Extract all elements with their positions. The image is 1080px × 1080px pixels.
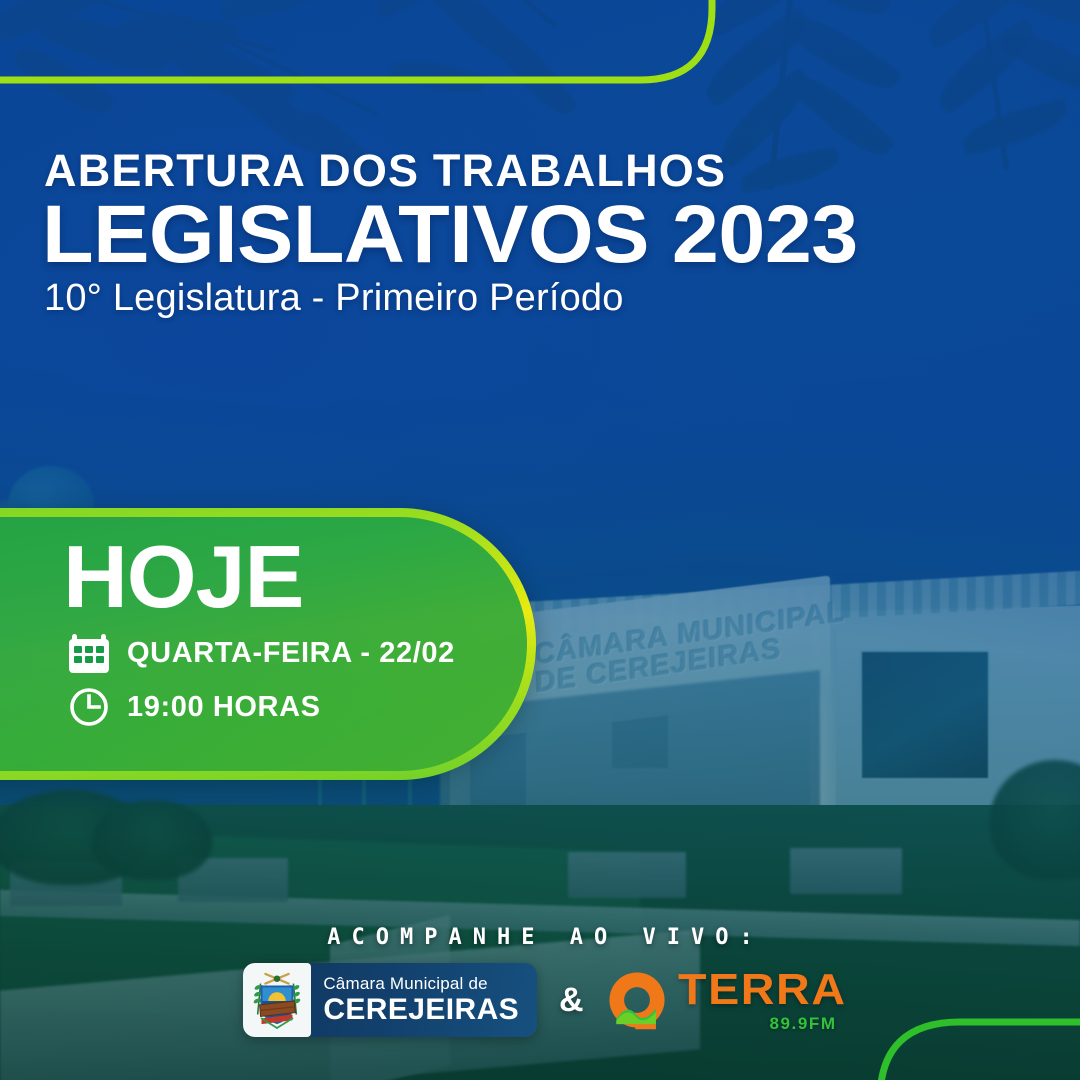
headline-line-1: ABERTURA DOS TRABALHOS: [44, 148, 834, 193]
footer-logos: Câmara Municipal de CEREJEIRAS & TERRA 8…: [0, 963, 1080, 1037]
badge-time-row: 19:00 HORAS: [67, 685, 527, 729]
badge-date-row: QUARTA-FEIRA - 22/02: [67, 631, 527, 675]
camara-logo[interactable]: Câmara Municipal de CEREJEIRAS: [243, 963, 537, 1037]
terra-logo-text: TERRA 89.9FM: [678, 968, 837, 1032]
coat-of-arms-icon: [243, 963, 311, 1037]
camara-logo-line1: Câmara Municipal de: [323, 975, 519, 992]
camara-logo-line2: CEREJEIRAS: [323, 995, 519, 1025]
today-badge: HOJE QUARTA-FEIRA - 22/02: [0, 508, 536, 780]
terra-q-icon: [606, 969, 668, 1031]
terra-name: TERRA: [678, 968, 847, 1012]
calendar-icon: [67, 631, 111, 675]
badge-date-text: QUARTA-FEIRA - 22/02: [127, 639, 455, 668]
today-badge-body: HOJE QUARTA-FEIRA - 22/02: [0, 517, 527, 771]
live-label: ACOMPANHE AO VIVO:: [0, 925, 1080, 950]
headline-line-2: LEGISLATIVOS 2023: [42, 197, 858, 272]
camara-logo-text: Câmara Municipal de CEREJEIRAS: [323, 975, 519, 1025]
event-poster: CÂMARA MUNICIPAL DE CEREJEIRAS: [0, 0, 1080, 1080]
terra-logo[interactable]: TERRA 89.9FM: [606, 968, 837, 1032]
headline-block: ABERTURA DOS TRABALHOS LEGISLATIVOS 2023…: [42, 148, 834, 320]
badge-title: HOJE: [63, 533, 527, 621]
badge-time-text: 19:00 HORAS: [127, 693, 321, 722]
clock-icon: [67, 685, 111, 729]
ampersand-separator: &: [559, 981, 584, 1020]
headline-subtitle: 10° Legislatura - Primeiro Período: [44, 278, 834, 320]
terra-frequency: 89.9FM: [678, 1015, 837, 1032]
